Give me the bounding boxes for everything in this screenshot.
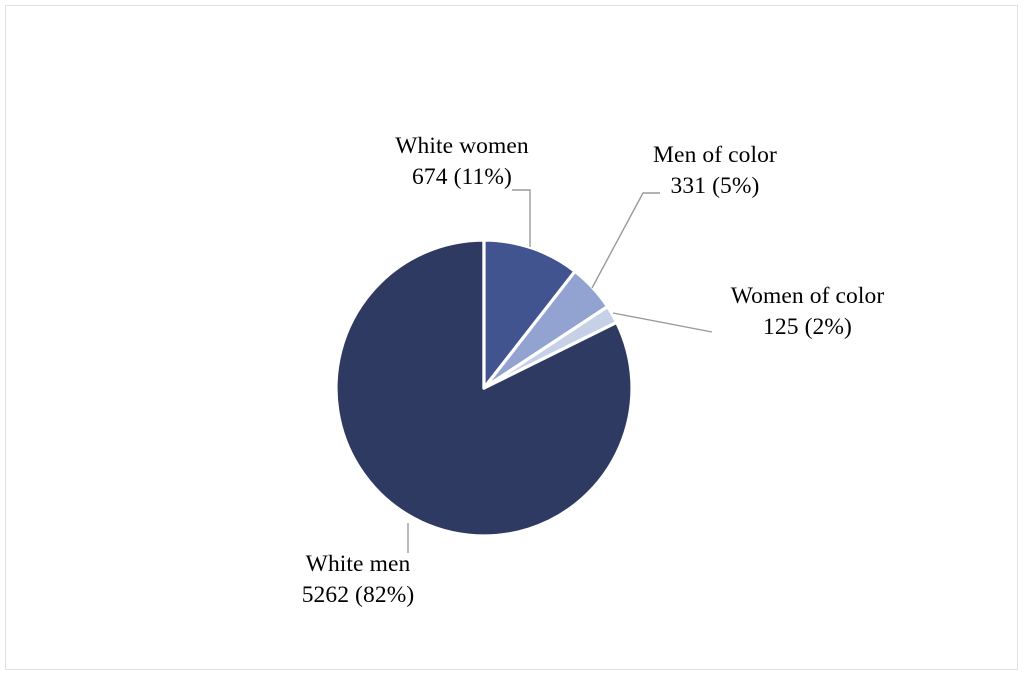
pie-label-men-of-color-value: 331 (5%): [620, 171, 810, 202]
pie-label-white-women-value: 674 (11%): [362, 162, 562, 193]
pie-label-men-of-color: Men of color 331 (5%): [620, 140, 810, 201]
pie-label-women-of-color-name: Women of color: [700, 281, 915, 312]
pie-label-white-women-name: White women: [362, 131, 562, 162]
leader-line-women-of-color: [613, 313, 712, 332]
pie-label-white-men: White men 5262 (82%): [258, 549, 458, 610]
pie-label-men-of-color-name: Men of color: [620, 140, 810, 171]
leader-line-men-of-color: [592, 193, 660, 288]
pie-slices: [336, 240, 632, 536]
leader-line-white-women: [512, 190, 530, 247]
pie-label-white-men-name: White men: [258, 549, 458, 580]
pie-label-women-of-color: Women of color 125 (2%): [700, 281, 915, 342]
pie-label-white-women: White women 674 (11%): [362, 131, 562, 192]
pie-label-women-of-color-value: 125 (2%): [700, 312, 915, 343]
chart-figure: White women 674 (11%) Men of color 331 (…: [0, 0, 1024, 676]
pie-label-white-men-value: 5262 (82%): [258, 580, 458, 611]
